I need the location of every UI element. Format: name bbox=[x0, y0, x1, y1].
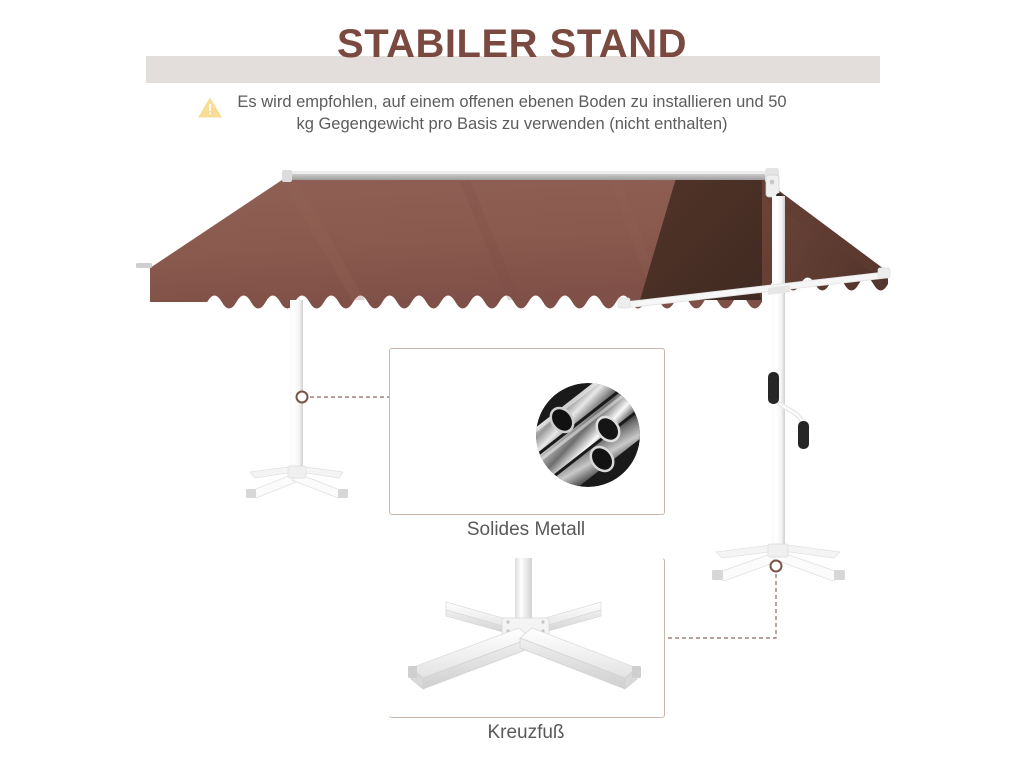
left-support-pole bbox=[290, 300, 303, 475]
awning-roller-bar bbox=[282, 168, 782, 199]
connector-right bbox=[663, 574, 776, 638]
left-cross-base bbox=[246, 466, 348, 498]
subtitle-text: Es wird empfohlen, auf einem offenen ebe… bbox=[232, 92, 792, 136]
right-cross-base bbox=[712, 544, 845, 581]
awning-canopy-main bbox=[136, 176, 762, 309]
subtitle-container: Es wird empfohlen, auf einem offenen ebe… bbox=[0, 92, 1024, 136]
chrome-metal-tubes-photo bbox=[536, 383, 640, 487]
crank-handle bbox=[768, 372, 809, 449]
right-support-pole bbox=[772, 196, 785, 552]
callout-label-cross-base: Kreuzfuß bbox=[389, 722, 663, 744]
callout-label-solid-metal: Solides Metall bbox=[389, 519, 663, 541]
connector-marker-left bbox=[297, 392, 308, 403]
connector-marker-right bbox=[771, 561, 782, 572]
awning-canopy-right-fold bbox=[640, 178, 888, 302]
white-cross-foot-base-photo bbox=[389, 558, 663, 716]
front-support-rail bbox=[618, 268, 890, 308]
page-title: STABILER STAND bbox=[0, 23, 1024, 65]
product-infographic-page: STABILER STAND Es wird empfohlen, auf ei… bbox=[0, 0, 1024, 768]
